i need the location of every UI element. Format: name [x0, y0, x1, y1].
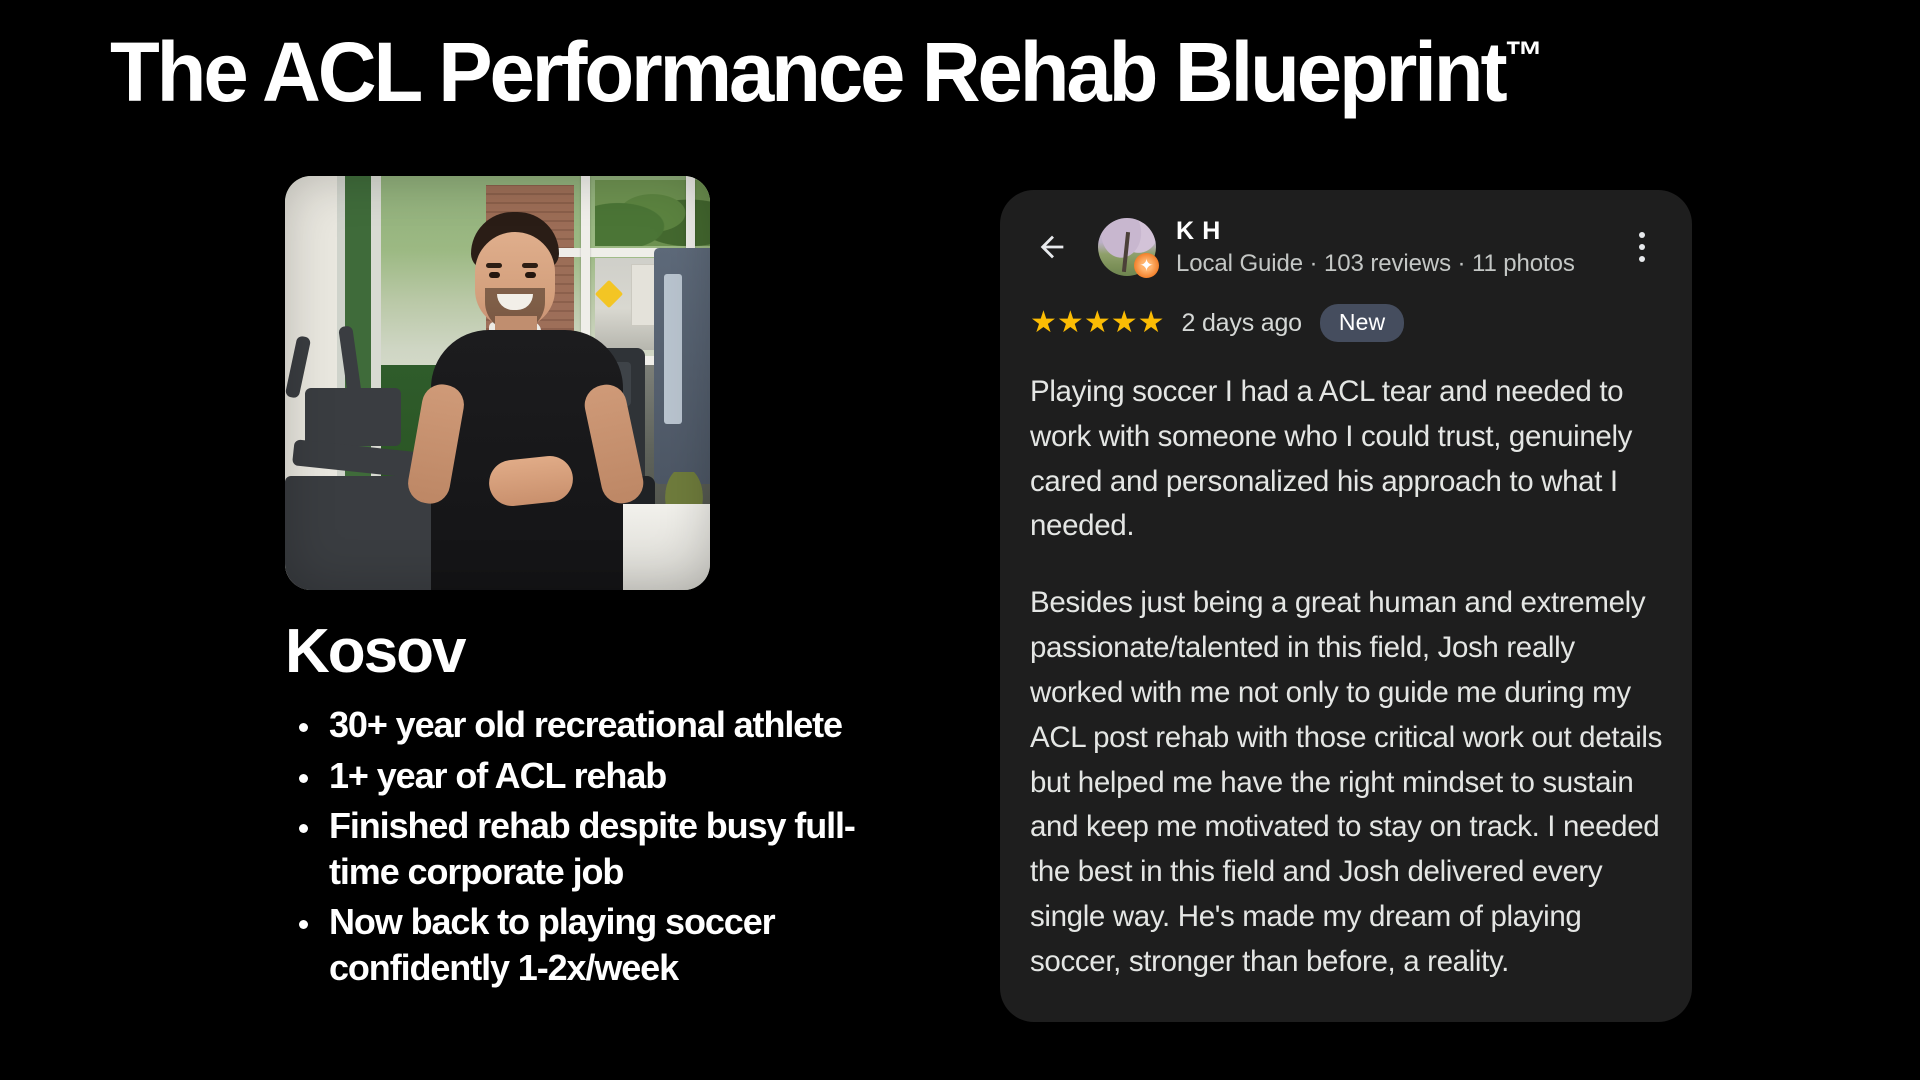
profile-name: Kosov	[285, 620, 925, 684]
page-title: The ACL Performance Rehab Blueprint™	[110, 28, 1817, 116]
review-rating-row: ★ ★ ★ ★ ★ 2 days ago New	[1030, 304, 1662, 342]
status-badge: New	[1320, 304, 1404, 342]
star-icon: ★	[1030, 308, 1056, 338]
review-body: Playing soccer I had a ACL tear and need…	[1030, 370, 1662, 985]
reviewer-identity: K H Local Guide · 103 reviews · 11 photo…	[1176, 216, 1618, 278]
review-paragraph: Playing soccer I had a ACL tear and need…	[1030, 370, 1662, 549]
more-options-icon[interactable]	[1622, 224, 1662, 270]
reviewer-name: K H	[1176, 216, 1618, 246]
google-review-card: ✦ K H Local Guide · 103 reviews · 11 pho…	[1000, 190, 1692, 1022]
list-item: 1+ year of ACL rehab	[285, 753, 915, 799]
star-icon: ★	[1111, 308, 1137, 338]
profile-bullet-list: 30+ year old recreational athlete 1+ yea…	[285, 702, 915, 990]
star-icon: ★	[1057, 308, 1083, 338]
list-item: Now back to playing soccer confidently 1…	[285, 899, 915, 991]
trademark-symbol: ™	[1504, 34, 1542, 78]
avatar[interactable]: ✦	[1098, 218, 1156, 276]
star-rating: ★ ★ ★ ★ ★	[1030, 308, 1164, 338]
list-item: Finished rehab despite busy full-time co…	[285, 803, 915, 895]
profile-photo	[285, 176, 710, 590]
back-arrow-icon[interactable]	[1030, 225, 1074, 269]
local-guide-badge-icon: ✦	[1134, 253, 1159, 278]
star-icon: ★	[1084, 308, 1110, 338]
profile-panel: Kosov 30+ year old recreational athlete …	[285, 176, 925, 995]
reviewer-meta: Local Guide · 103 reviews · 11 photos	[1176, 250, 1618, 278]
list-item: 30+ year old recreational athlete	[285, 702, 915, 748]
photo-vignette	[285, 176, 710, 590]
page-title-text: The ACL Performance Rehab Blueprint	[110, 25, 1504, 119]
review-date: 2 days ago	[1182, 309, 1302, 338]
star-icon: ★	[1138, 308, 1164, 338]
review-paragraph: Besides just being a great human and ext…	[1030, 581, 1662, 984]
review-header: ✦ K H Local Guide · 103 reviews · 11 pho…	[1030, 216, 1662, 278]
